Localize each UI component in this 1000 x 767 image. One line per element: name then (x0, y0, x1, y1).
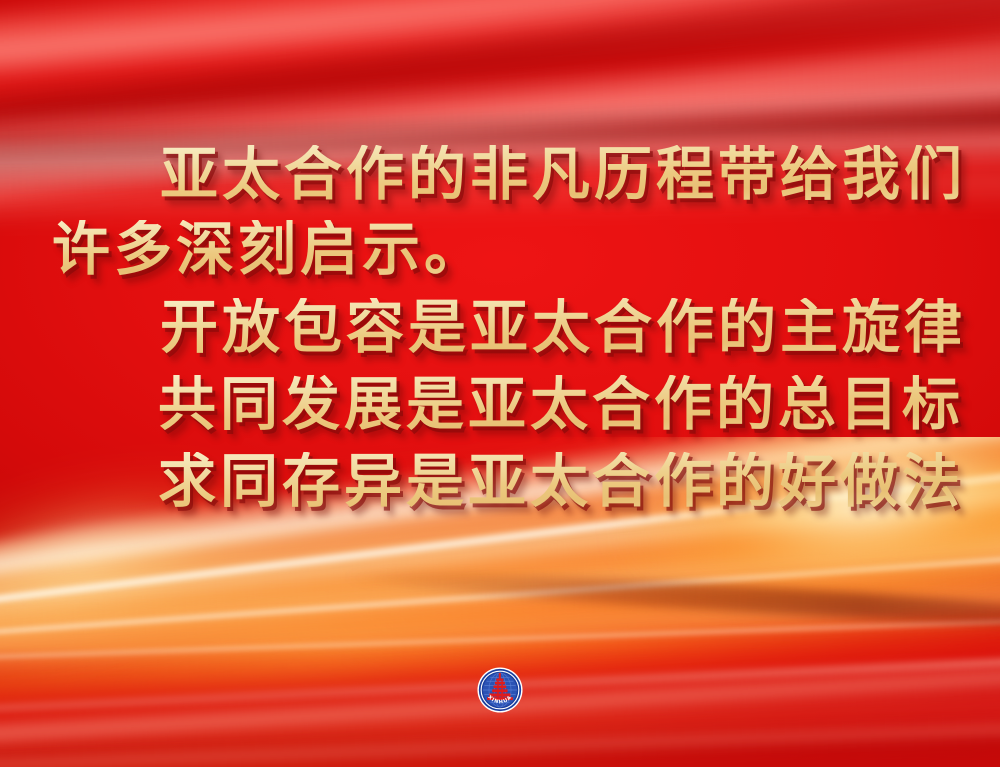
text-line-2: 许多深刻启示。 (52, 220, 486, 278)
text-line-3: 开放包容是亚太合作的主旋律 (160, 298, 966, 356)
text-line-5: 求同存异是亚太合作的好做法 (158, 452, 964, 510)
xinhua-logo-icon: XINHUA (477, 667, 523, 713)
slide-text-block: 亚太合作的非凡历程带给我们 许多深刻启示。 开放包容是亚太合作的主旋律 共同发展… (0, 0, 1000, 560)
text-line-1: 亚太合作的非凡历程带给我们 (160, 145, 966, 203)
slide-canvas: 亚太合作的非凡历程带给我们 许多深刻启示。 开放包容是亚太合作的主旋律 共同发展… (0, 0, 1000, 767)
text-line-4: 共同发展是亚太合作的总目标 (158, 375, 964, 433)
